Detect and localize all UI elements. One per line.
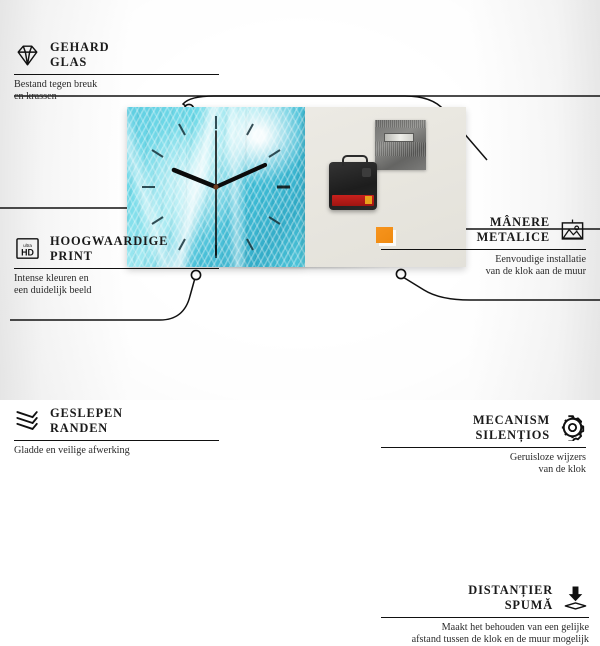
feature-title: MÂNERE METALICE [477, 215, 550, 245]
hanger-loop [342, 155, 368, 166]
feature-rule [14, 268, 219, 269]
feature-title: MECANISM SILENȚIOS [473, 413, 550, 443]
feature-manere-metalice: MÂNERE METALICE Eenvoudige installatie v… [381, 215, 586, 279]
feature-rule [14, 440, 219, 441]
feature-header: DISTANȚIER SPUMĂ [381, 583, 589, 613]
feature-gehard-glas: GEHARD GLAS Bestand tegen breuk en krass… [14, 40, 219, 104]
diagonal-lines-icon [14, 407, 41, 434]
gear-icon [559, 414, 586, 441]
arrow-down-to-surface-icon [562, 584, 589, 611]
feature-hoogwaardige-print: ultra HD HOOGWAARDIGE PRINT Intense kleu… [14, 234, 219, 298]
feature-header: ultra HD HOOGWAARDIGE PRINT [14, 234, 219, 264]
feature-description: Bestand tegen breuk en krassen [14, 79, 219, 104]
feature-rule [14, 74, 219, 75]
picture-frame-icon [559, 217, 586, 244]
feature-header: MECANISM SILENȚIOS [381, 413, 586, 443]
quartz-mechanism [329, 162, 377, 210]
feature-description: Eenvoudige installatie van de klok aan d… [381, 254, 586, 279]
connector-line-manere-metalice [183, 96, 600, 107]
feature-geslepen-randen: GESLEPEN RANDEN Gladde en veilige afwerk… [14, 406, 219, 457]
feature-header: GEHARD GLAS [14, 40, 219, 70]
mechanism-knob [362, 168, 371, 177]
feature-title: DISTANȚIER SPUMĂ [468, 583, 553, 613]
infographic-canvas: GEHARD GLAS Bestand tegen breuk en krass… [0, 0, 600, 400]
feature-description: Gladde en veilige afwerking [14, 445, 219, 457]
feature-description: Geruisloze wijzers van de klok [381, 452, 586, 477]
svg-text:HD: HD [21, 248, 34, 258]
feature-mecanism-silentios: MECANISM SILENȚIOS [381, 413, 586, 477]
feature-rule [381, 447, 586, 448]
feature-description: Intense kleuren en een duidelijk beeld [14, 273, 219, 298]
battery [332, 195, 374, 206]
feature-title: GEHARD GLAS [50, 40, 110, 70]
feature-title: HOOGWAARDIGE PRINT [50, 234, 168, 264]
feature-header: GESLEPEN RANDEN [14, 406, 219, 436]
feature-description: Maakt het behouden van een gelijke afsta… [381, 622, 589, 646]
hanger-slot [384, 133, 414, 142]
feature-header: MÂNERE METALICE [381, 215, 586, 245]
feature-rule [381, 249, 586, 250]
feature-title: GESLEPEN RANDEN [50, 406, 123, 436]
ultra-hd-icon: ultra HD [14, 235, 41, 262]
feature-distantier-spuma: DISTANȚIER SPUMĂ Maakt het behouden van … [381, 583, 589, 646]
metal-hanger-plate [375, 120, 426, 170]
diamond-icon [14, 42, 41, 69]
feature-rule [381, 617, 589, 618]
